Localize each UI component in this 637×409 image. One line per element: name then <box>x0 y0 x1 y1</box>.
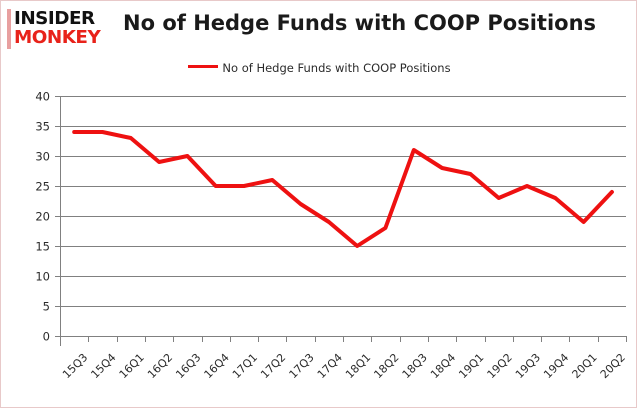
x-axis-tick-label: 18Q2 <box>371 351 401 381</box>
gridlines-group <box>55 97 626 337</box>
insider-monkey-logo: INSIDER MONKEY <box>7 9 119 49</box>
x-axis-tick-label: 18Q1 <box>343 351 373 381</box>
chart-page: INSIDER MONKEY No of Hedge Funds with CO… <box>0 0 637 408</box>
x-axis-tick-label: 18Q3 <box>400 351 430 381</box>
legend-item-label: No of Hedge Funds with COOP Positions <box>222 61 450 75</box>
chart-header: INSIDER MONKEY No of Hedge Funds with CO… <box>1 1 637 53</box>
y-axis-tick-label: 20 <box>35 210 50 224</box>
x-axis-tick-label: 19Q2 <box>485 351 515 381</box>
logo-text-insider: INSIDER <box>14 9 95 28</box>
x-axis-tick-label: 15Q4 <box>88 351 118 381</box>
y-axis-tick-label: 0 <box>43 330 50 344</box>
x-axis-tick-label: 20Q2 <box>598 351 628 381</box>
y-axis-tick-label: 15 <box>35 240 50 254</box>
chart-legend: No of Hedge Funds with COOP Positions <box>1 59 637 75</box>
y-axis-tick-label: 30 <box>35 150 50 164</box>
legend-item: No of Hedge Funds with COOP Positions <box>188 59 450 77</box>
x-axis-tick-label: 17Q2 <box>258 351 288 381</box>
x-axis-tick-label: 17Q4 <box>315 351 345 381</box>
x-axis-tick-label: 16Q3 <box>173 351 203 381</box>
logo-accent-bar <box>7 9 11 49</box>
x-axis-tick-label: 19Q4 <box>541 351 571 381</box>
page-title: No of Hedge Funds with COOP Positions <box>123 11 596 35</box>
y-axis-tick-label: 25 <box>35 180 50 194</box>
x-axis-tick-label: 16Q2 <box>145 351 175 381</box>
line-chart-svg: 0510152025303540 15Q315Q416Q116Q216Q316Q… <box>1 81 637 409</box>
x-axis-tick-label: 17Q1 <box>230 351 260 381</box>
y-axis-tick-label: 40 <box>35 90 50 104</box>
x-axis-tick-label: 18Q4 <box>428 351 458 381</box>
y-axis-tick-label: 5 <box>43 300 50 314</box>
x-axis-tick-label: 17Q3 <box>287 351 317 381</box>
legend-color-swatch <box>188 65 218 68</box>
logo-text-monkey: MONKEY <box>14 28 100 47</box>
x-axis-labels-group: 15Q315Q416Q116Q216Q316Q417Q117Q217Q317Q4… <box>60 351 628 381</box>
x-axis-tick-label: 20Q1 <box>570 351 600 381</box>
y-axis-tick-label: 10 <box>35 270 50 284</box>
x-axis-tick-label: 19Q3 <box>513 351 543 381</box>
y-axis-labels-group: 0510152025303540 <box>35 90 50 344</box>
x-axis-tick-label: 16Q1 <box>117 351 147 381</box>
plot-area: 0510152025303540 15Q315Q416Q116Q216Q316Q… <box>1 81 637 409</box>
y-axis-tick-label: 35 <box>35 120 50 134</box>
x-axis-tick-label: 19Q1 <box>456 351 486 381</box>
axis-lines-group <box>61 96 627 346</box>
data-series-line <box>74 132 612 246</box>
x-axis-tick-label: 15Q3 <box>60 351 90 381</box>
x-axis-tick-label: 16Q4 <box>202 351 232 381</box>
